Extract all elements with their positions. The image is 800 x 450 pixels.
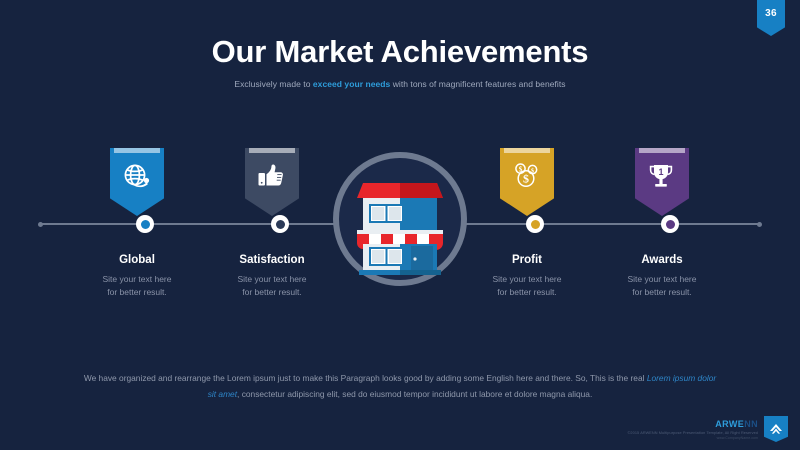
thumbs-up-icon bbox=[256, 161, 288, 193]
shield-global[interactable] bbox=[110, 148, 164, 216]
paragraph-part-2: , consectetur adipiscing elit, sed do ei… bbox=[237, 389, 592, 399]
website-url[interactable]: www.CompanyName.com bbox=[628, 436, 759, 440]
timeline-start-dot bbox=[38, 222, 43, 227]
timeline-node-profit[interactable] bbox=[526, 215, 544, 233]
footer: ARWENN ©2015 ARWENN Multipurpose Present… bbox=[628, 416, 789, 442]
page-subtitle: Exclusively made to exceed your needs wi… bbox=[0, 79, 800, 89]
milestone-title: Satisfaction bbox=[192, 254, 352, 266]
desc-line-1: Site your text here bbox=[493, 274, 562, 284]
subtitle-pre: Exclusively made to bbox=[234, 79, 312, 89]
shield-cap bbox=[114, 148, 160, 153]
shield-awards[interactable]: 1 bbox=[635, 148, 689, 216]
desc-line-2: for better result. bbox=[107, 287, 167, 297]
page-number-text: 36 bbox=[765, 0, 777, 19]
page-title: Our Market Achievements bbox=[0, 34, 800, 70]
shield-cap bbox=[249, 148, 295, 153]
page-number-badge: 36 bbox=[757, 0, 785, 36]
globe-icon bbox=[121, 161, 153, 193]
milestone-awards: Awards Site your text here for better re… bbox=[582, 254, 742, 299]
money-coins-icon: $ $ $ bbox=[511, 161, 543, 193]
desc-line-2: for better result. bbox=[242, 287, 302, 297]
header: Our Market Achievements Exclusively made… bbox=[0, 34, 800, 89]
desc-line-1: Site your text here bbox=[103, 274, 172, 284]
subtitle-highlight: exceed your needs bbox=[313, 79, 390, 89]
svg-text:1: 1 bbox=[658, 167, 663, 177]
milestone-title: Awards bbox=[582, 254, 742, 266]
shield-cap bbox=[639, 148, 685, 153]
brand-name: ARWENN bbox=[628, 419, 759, 429]
slide-root: 36 Our Market Achievements Exclusively m… bbox=[0, 0, 800, 450]
timeline-node-global[interactable] bbox=[136, 215, 154, 233]
chevron-up-glyph bbox=[769, 423, 783, 435]
desc-line-1: Site your text here bbox=[238, 274, 307, 284]
brand-name-part-a: ARWE bbox=[715, 419, 744, 429]
timeline-node-awards[interactable] bbox=[661, 215, 679, 233]
body-paragraph: We have organized and rearrange the Lore… bbox=[80, 370, 720, 403]
footer-text-block: ARWENN ©2015 ARWENN Multipurpose Present… bbox=[628, 419, 759, 440]
chevron-logo-icon bbox=[764, 416, 788, 442]
copyright-text: ©2015 ARWENN Multipurpose Presentation T… bbox=[628, 431, 759, 435]
shield-cap bbox=[504, 148, 550, 153]
shield-satisfaction[interactable] bbox=[245, 148, 299, 216]
milestone-satisfaction: Satisfaction Site your text here for bet… bbox=[192, 254, 352, 299]
subtitle-post: with tons of magnificent features and be… bbox=[390, 79, 565, 89]
desc-line-2: for better result. bbox=[497, 287, 557, 297]
svg-text:$: $ bbox=[531, 167, 534, 174]
brand-name-part-b: NN bbox=[744, 419, 758, 429]
svg-text:$: $ bbox=[523, 172, 529, 186]
desc-line-2: for better result. bbox=[632, 287, 692, 297]
timeline-end-dot bbox=[757, 222, 762, 227]
milestone-description: Site your text here for better result. bbox=[192, 273, 352, 299]
trophy-icon: 1 bbox=[646, 161, 678, 193]
shield-profit[interactable]: $ $ $ bbox=[500, 148, 554, 216]
timeline-node-satisfaction[interactable] bbox=[271, 215, 289, 233]
paragraph-part-1: We have organized and rearrange the Lore… bbox=[84, 373, 647, 383]
desc-line-1: Site your text here bbox=[628, 274, 697, 284]
milestone-description: Site your text here for better result. bbox=[582, 273, 742, 299]
